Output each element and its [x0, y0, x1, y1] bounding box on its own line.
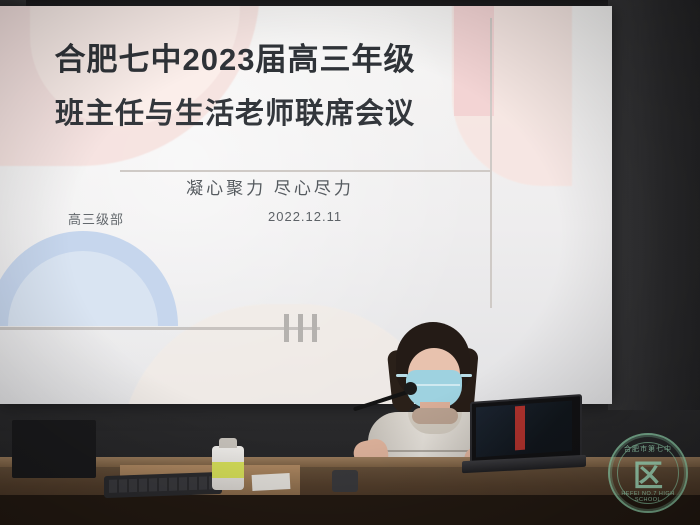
- slide-department-label: 高三级部: [68, 209, 124, 228]
- school-badge-bottom-text: HEFEI NO.7 HIGH SCHOOL: [610, 491, 686, 503]
- slide-horizontal-rule: [120, 170, 490, 172]
- photo-scene: 合肥七中2023届高三年级 班主任与生活老师联席会议 凝心聚力 尽心尽力 高三级…: [0, 0, 700, 525]
- desk-keyboard: [104, 472, 222, 498]
- desk-edge: [0, 457, 700, 467]
- scarf: [412, 408, 458, 424]
- slide-title-line-1: 合肥七中2023届高三年级: [0, 34, 470, 79]
- slide-date-label: 2022.12.11: [268, 209, 342, 224]
- drink-bottle-cap: [219, 438, 237, 448]
- projection-screen: 合肥七中2023届高三年级 班主任与生活老师联席会议 凝心聚力 尽心尽力 高三级…: [0, 6, 612, 404]
- slide-subtitle: 凝心聚力 尽心尽力: [120, 174, 420, 199]
- paper-sheet: [252, 473, 291, 491]
- drink-bottle-label: [212, 462, 244, 478]
- microphone-head: [404, 382, 417, 395]
- slide-tick-marks: [284, 314, 317, 342]
- slide-title-line-2: 班主任与生活老师联席会议: [0, 90, 470, 132]
- desk-front-panel: [0, 495, 700, 525]
- school-badge-watermark: 合肥市第七中 区 HEFEI NO.7 HIGH SCHOOL: [608, 433, 688, 513]
- slide-baseline-rule: [0, 327, 320, 330]
- school-badge-glyph: 区: [610, 451, 686, 495]
- mask-strap-right: [460, 374, 472, 377]
- desk-mug: [332, 470, 358, 492]
- wall-right: [608, 0, 700, 410]
- laptop-screen-accent: [515, 406, 525, 451]
- dark-monitor: [12, 420, 96, 478]
- slide-vertical-rule: [490, 18, 492, 308]
